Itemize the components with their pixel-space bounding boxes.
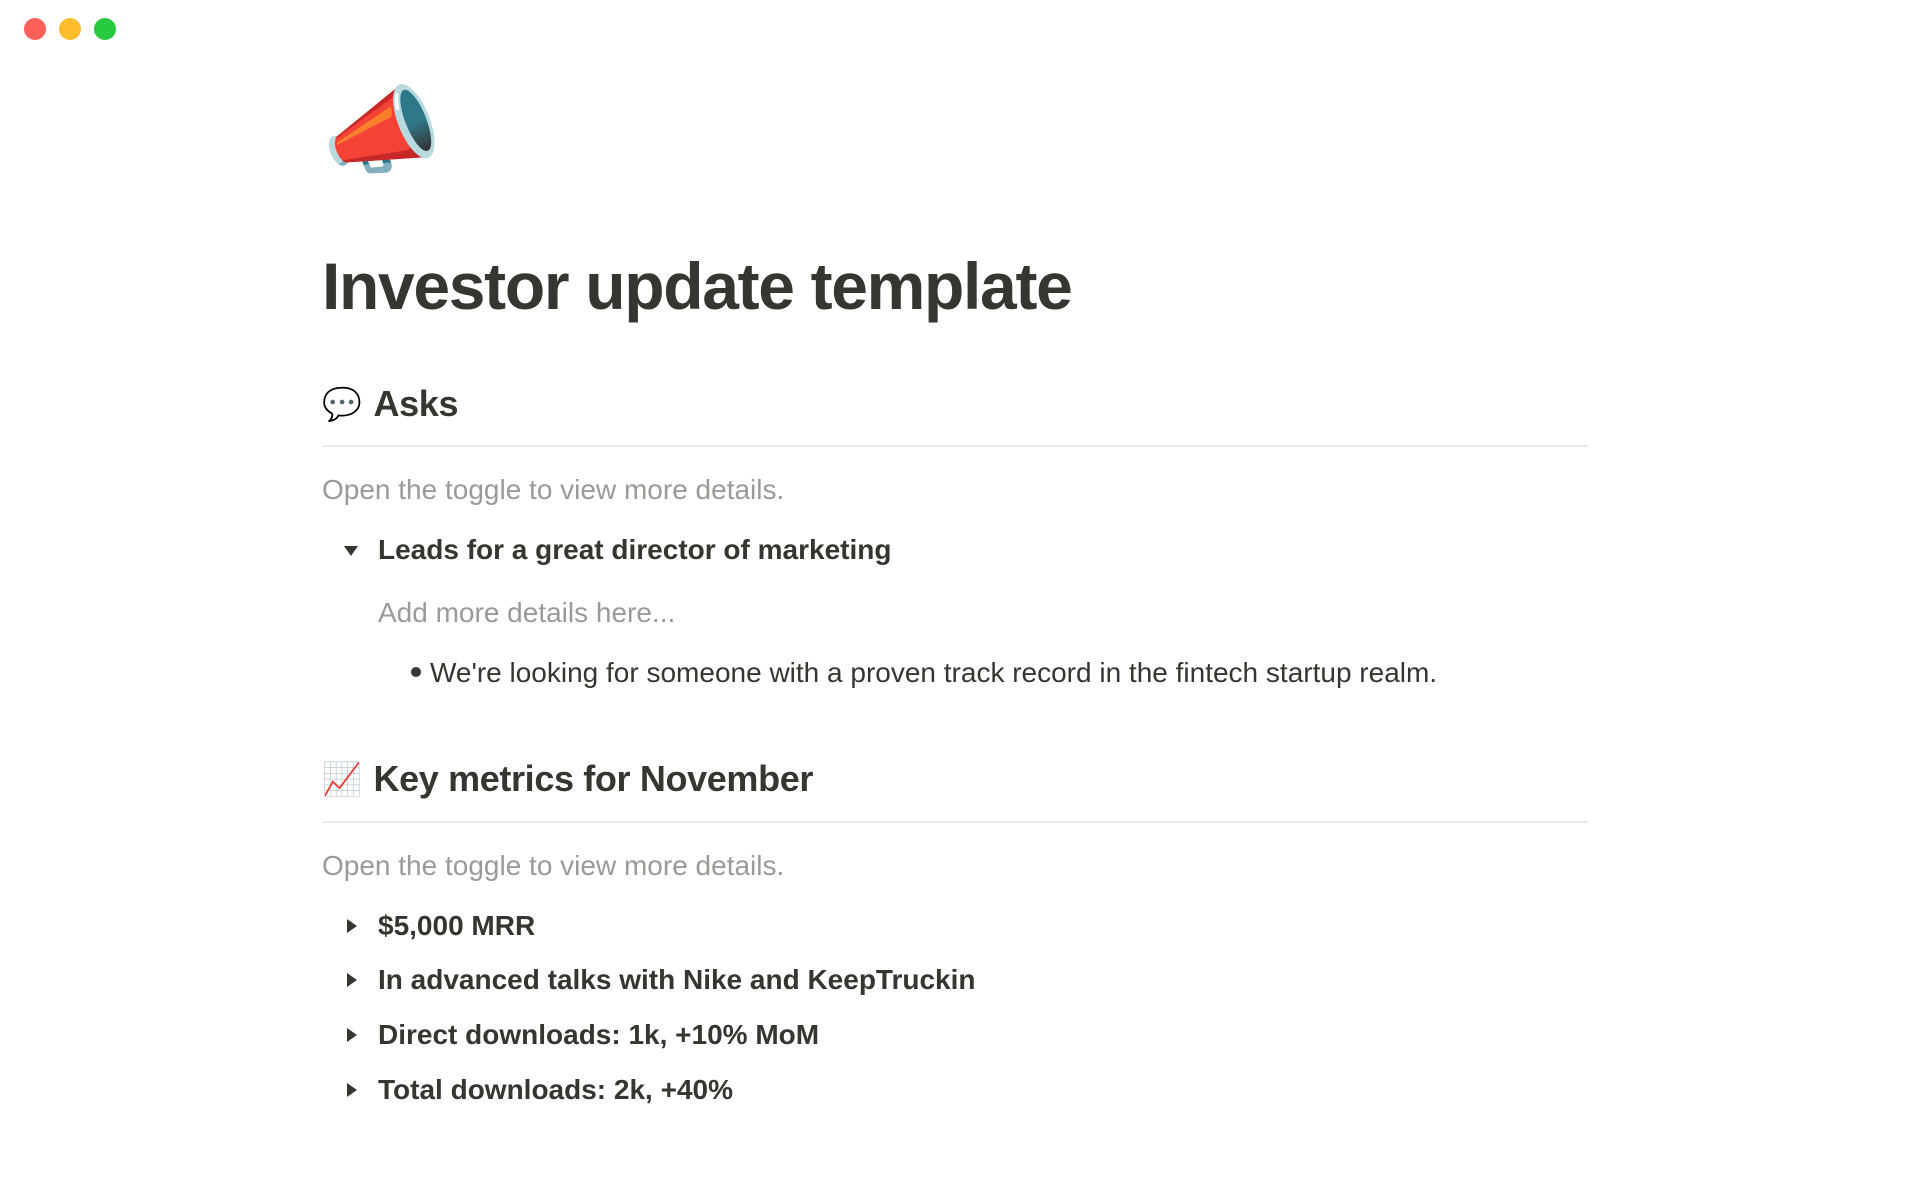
toggle-item[interactable]: $5,000 MRR xyxy=(338,899,1588,954)
toggle-item[interactable]: In advanced talks with Nike and KeepTruc… xyxy=(338,953,1588,1008)
toggle-list-asks: Leads for a great director of marketing … xyxy=(322,523,1588,698)
section-key-metrics: 📈 Key metrics for November Open the togg… xyxy=(322,756,1588,1117)
close-window-button[interactable] xyxy=(24,18,46,40)
toggle-label: $5,000 MRR xyxy=(378,906,535,947)
toggle-item[interactable]: Total downloads: 2k, +40% xyxy=(338,1063,1588,1118)
chart-increasing-emoji: 📈 xyxy=(322,763,361,795)
chevron-right-icon[interactable] xyxy=(338,1025,364,1045)
section-hint: Open the toggle to view more details. xyxy=(322,845,1588,887)
chevron-down-icon[interactable] xyxy=(338,540,364,560)
chevron-right-icon[interactable] xyxy=(338,916,364,936)
minimize-window-button[interactable] xyxy=(59,18,81,40)
window-titlebar xyxy=(0,0,1920,58)
toggle-list-key-metrics: $5,000 MRR In advanced talks with Nike a… xyxy=(322,899,1588,1117)
section-heading-text: Asks xyxy=(373,381,458,428)
section-heading-asks[interactable]: 💬 Asks xyxy=(322,381,1588,428)
bullet-point-icon xyxy=(402,667,430,677)
section-asks: 💬 Asks Open the toggle to view more deta… xyxy=(322,381,1588,698)
chevron-right-icon[interactable] xyxy=(338,970,364,990)
toggle-children: Add more details here... We're looking f… xyxy=(378,592,1588,698)
window-traffic-lights xyxy=(24,18,116,40)
toggle-label: Leads for a great director of marketing xyxy=(378,530,891,571)
document-content: 📣 Investor update template 💬 Asks Open t… xyxy=(322,84,1588,1117)
section-divider xyxy=(322,821,1588,823)
toggle-item[interactable]: Leads for a great director of marketing xyxy=(338,523,1588,578)
list-item[interactable]: We're looking for someone with a proven … xyxy=(402,648,1588,698)
toggle-item[interactable]: Direct downloads: 1k, +10% MoM xyxy=(338,1008,1588,1063)
speech-balloon-emoji: 💬 xyxy=(322,388,361,420)
maximize-window-button[interactable] xyxy=(94,18,116,40)
megaphone-emoji[interactable]: 📣 xyxy=(322,84,1588,204)
bullet-list: We're looking for someone with a proven … xyxy=(378,648,1588,698)
toggle-label: In advanced talks with Nike and KeepTruc… xyxy=(378,960,976,1001)
document-page: 📣 Investor update template 💬 Asks Open t… xyxy=(0,84,1920,1117)
section-hint: Open the toggle to view more details. xyxy=(322,469,1588,511)
page-title[interactable]: Investor update template xyxy=(322,250,1588,323)
toggle-label: Direct downloads: 1k, +10% MoM xyxy=(378,1015,819,1056)
section-heading-key-metrics[interactable]: 📈 Key metrics for November xyxy=(322,756,1588,803)
section-divider xyxy=(322,445,1588,447)
app-window: 📣 Investor update template 💬 Asks Open t… xyxy=(0,0,1920,1200)
toggle-child-hint[interactable]: Add more details here... xyxy=(378,592,1588,634)
list-item-text: We're looking for someone with a proven … xyxy=(430,652,1437,694)
section-heading-text: Key metrics for November xyxy=(373,756,813,803)
toggle-label: Total downloads: 2k, +40% xyxy=(378,1070,733,1111)
chevron-right-icon[interactable] xyxy=(338,1080,364,1100)
